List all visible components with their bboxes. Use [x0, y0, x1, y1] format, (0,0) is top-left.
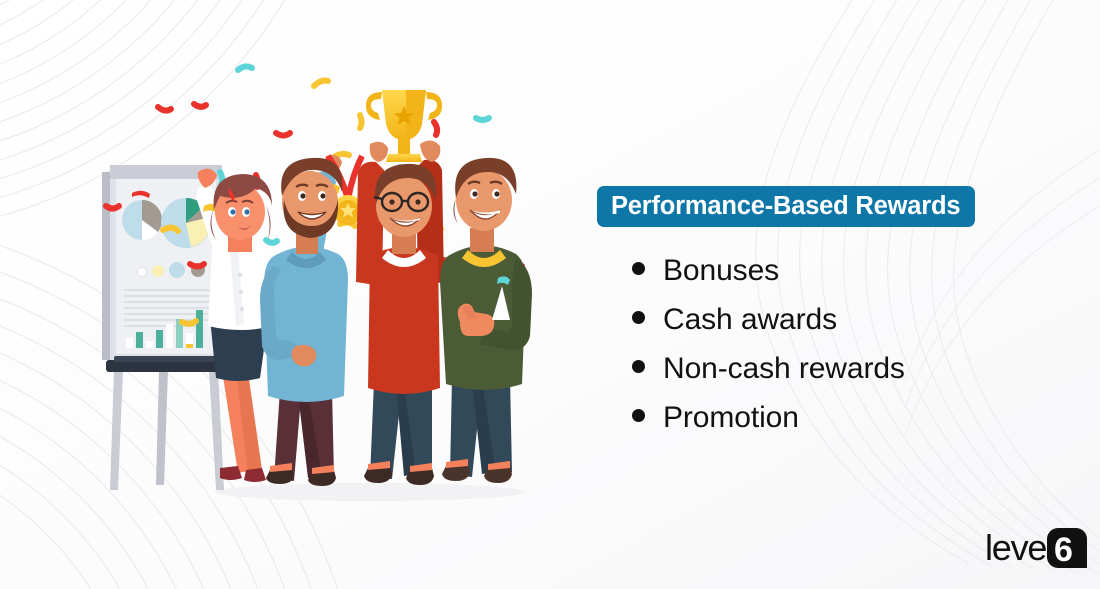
- bullet-dot-icon: [632, 409, 645, 422]
- list-item-label: Promotion: [663, 403, 799, 433]
- page-title: Performance-Based Rewards: [611, 192, 960, 221]
- rewards-list: Bonuses Cash awards Non-cash rewards Pro…: [632, 256, 1052, 452]
- content-column: Performance-Based Rewards Bonuses Cash a…: [0, 0, 1100, 589]
- list-item: Bonuses: [632, 256, 1052, 305]
- logo-wordmark: level: [985, 527, 1053, 568]
- list-item: Non-cash rewards: [632, 354, 1052, 403]
- list-item: Promotion: [632, 403, 1052, 452]
- title-badge: Performance-Based Rewards: [597, 186, 975, 227]
- level6-logo: level 6: [985, 524, 1089, 570]
- list-item-label: Non-cash rewards: [663, 354, 905, 384]
- bullet-dot-icon: [632, 262, 645, 275]
- bullet-dot-icon: [632, 360, 645, 373]
- logo-mark-glyph: 6: [1054, 531, 1073, 569]
- list-item: Cash awards: [632, 305, 1052, 354]
- bullet-dot-icon: [632, 311, 645, 324]
- list-item-label: Cash awards: [663, 305, 837, 335]
- slide-canvas: Performance-Based Rewards Bonuses Cash a…: [0, 0, 1100, 589]
- list-item-label: Bonuses: [663, 256, 779, 286]
